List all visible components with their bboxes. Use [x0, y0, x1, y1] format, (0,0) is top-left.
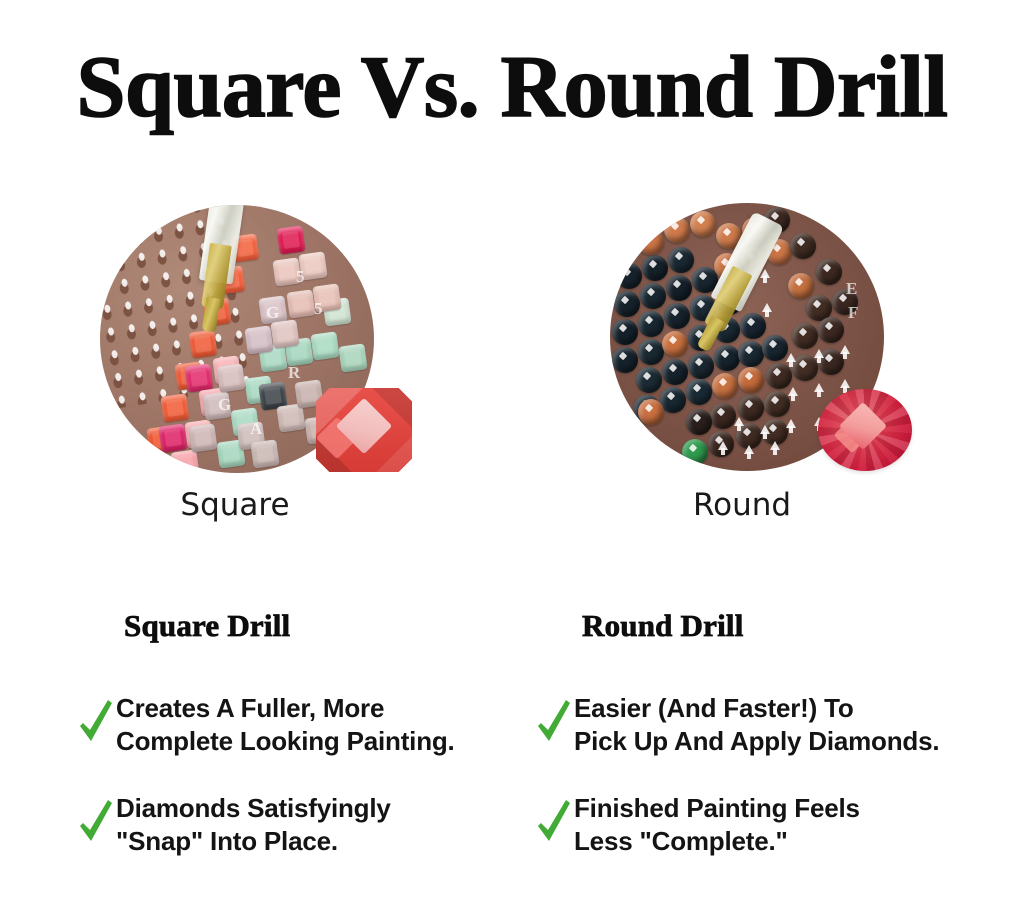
list-item: Finished Painting Feels Less "Complete."	[534, 792, 1004, 858]
list-item-label: Diamonds Satisfyingly "Snap" Into Place.	[116, 792, 391, 858]
round-drill-photo: E F	[598, 193, 938, 483]
square-drill-photo: G A R 5 5 G	[88, 195, 428, 485]
check-icon	[534, 699, 574, 751]
loose-square-gem	[316, 388, 412, 472]
list-item-label: Creates A Fuller, More Complete Looking …	[116, 692, 455, 758]
list-item: Diamonds Satisfyingly "Snap" Into Place.	[76, 792, 546, 858]
list-item-label: Easier (And Faster!) To Pick Up And Appl…	[574, 692, 939, 758]
loose-round-gem	[818, 389, 912, 471]
square-drill-heading: Square Drill	[124, 608, 290, 644]
list-item: Creates A Fuller, More Complete Looking …	[76, 692, 546, 758]
page-title: Square Vs. Round Drill	[0, 44, 1024, 132]
check-icon	[534, 799, 574, 851]
square-photo-caption: Square	[85, 487, 385, 523]
infographic-page: Square Vs. Round Drill	[0, 0, 1024, 923]
list-item-label: Finished Painting Feels Less "Complete."	[574, 792, 860, 858]
list-item: Easier (And Faster!) To Pick Up And Appl…	[534, 692, 1004, 758]
check-icon	[76, 699, 116, 751]
round-drill-heading: Round Drill	[582, 608, 744, 644]
check-icon	[76, 799, 116, 851]
round-photo-caption: Round	[592, 487, 892, 523]
